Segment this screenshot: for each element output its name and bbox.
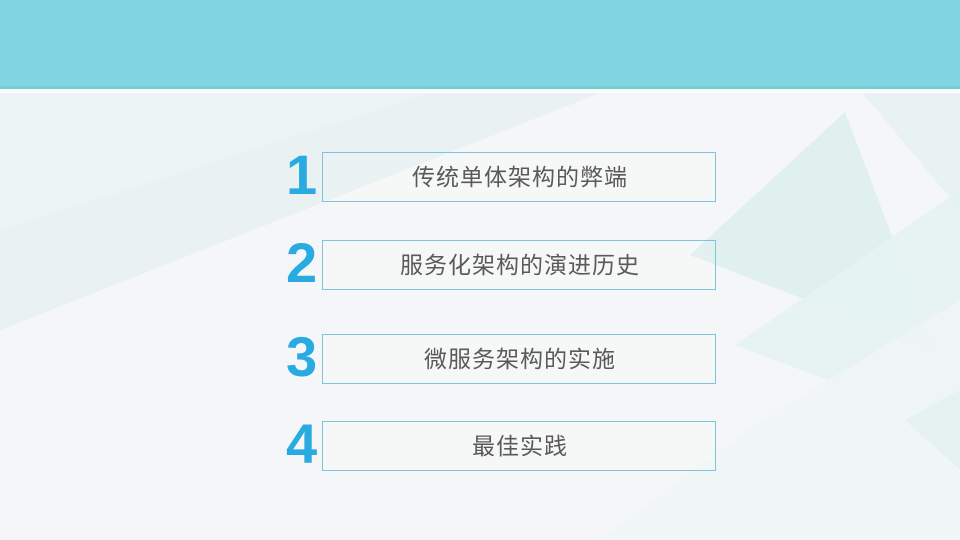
toc-label-2: 服务化架构的演进历史 — [322, 240, 718, 290]
toc-label-1: 传统单体架构的弊端 — [322, 152, 718, 202]
toc-label-3: 微服务架构的实施 — [322, 334, 718, 384]
toc-label-4: 最佳实践 — [322, 421, 718, 471]
toc-item-4[interactable]: 4 最佳实践 — [286, 421, 718, 473]
toc-item-3[interactable]: 3 微服务架构的实施 — [286, 334, 718, 386]
toc-item-2[interactable]: 2 服务化架构的演进历史 — [286, 240, 718, 292]
toc-list: 1 传统单体架构的弊端 2 服务化架构的演进历史 3 微服务架构的实施 4 最佳… — [0, 0, 960, 540]
toc-item-1[interactable]: 1 传统单体架构的弊端 — [286, 152, 718, 204]
slide-root: 目录 1 传统单体架构的弊端 2 服务化架构的演进历史 3 微服务架构的实施 4… — [0, 0, 960, 540]
